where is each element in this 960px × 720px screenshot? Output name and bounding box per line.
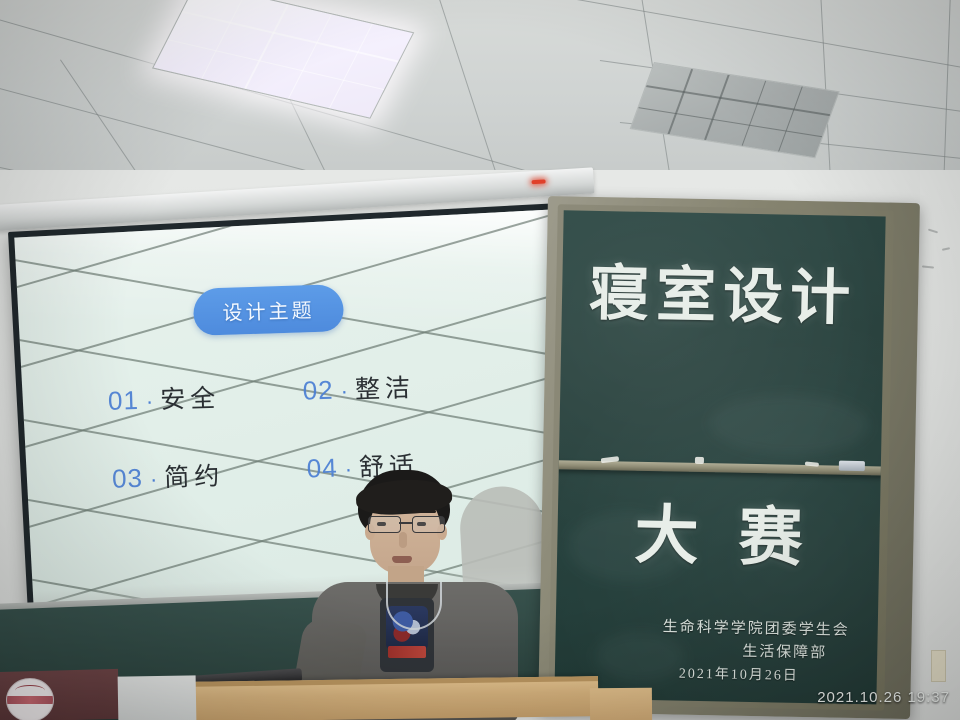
right-wall [920, 170, 960, 720]
slide-title-banner: 设计主题 [193, 284, 344, 336]
blackboard-headline-line2: 大赛 [557, 482, 881, 580]
blackboard-signature: 生命科学学院团委学生会 生活保障部 2021年10月26日 [555, 614, 868, 688]
chalk-ledge [555, 460, 885, 475]
slide-item-number: 01 [107, 385, 139, 417]
podium [178, 676, 599, 720]
ceiling-light-right [630, 62, 840, 158]
blackboard-surface: 寝室设计 大赛 生命科学学院团委学生会 生活保障部 2021年10月26日 [554, 210, 885, 704]
blackboard-headline-line1: 寝室设计 [561, 244, 885, 337]
presenter-nose [399, 532, 407, 548]
blackboard-eraser[interactable] [839, 461, 865, 471]
slide-item-number: 02 [302, 375, 334, 407]
slide-item-dot: · [146, 388, 154, 414]
slide-item-number: 03 [112, 463, 144, 495]
camera-timestamp: 2021.10.26 19:37 [817, 689, 950, 706]
shirt-graphic-text [388, 646, 426, 658]
slide-item-dot: · [340, 378, 348, 404]
wall-switch-plate[interactable] [931, 650, 946, 682]
roller-led-indicator [532, 179, 546, 184]
side-panel [118, 675, 197, 720]
slide-title-text: 设计主题 [222, 294, 315, 326]
slide-item-02: 02 · 整洁 [302, 368, 415, 408]
main-blackboard: 寝室设计 大赛 生命科学学院团委学生会 生活保障部 2021年10月26日 [538, 196, 920, 719]
slide-item-label: 安全 [160, 378, 221, 416]
slide-item-label: 简约 [164, 456, 225, 494]
classroom-scene: 设计主题 01 · 安全 02 · 整洁 [0, 0, 960, 720]
presenter-mouth [392, 556, 412, 563]
podium-right-section [590, 688, 652, 720]
slide-item-label: 整洁 [354, 368, 415, 406]
university-emblem-icon [6, 678, 54, 720]
slide-item-dot: · [150, 466, 158, 492]
slide-item-01: 01 · 安全 [107, 378, 220, 418]
presenter-glasses [366, 516, 446, 531]
slide-item-03: 03 · 简约 [111, 456, 224, 496]
